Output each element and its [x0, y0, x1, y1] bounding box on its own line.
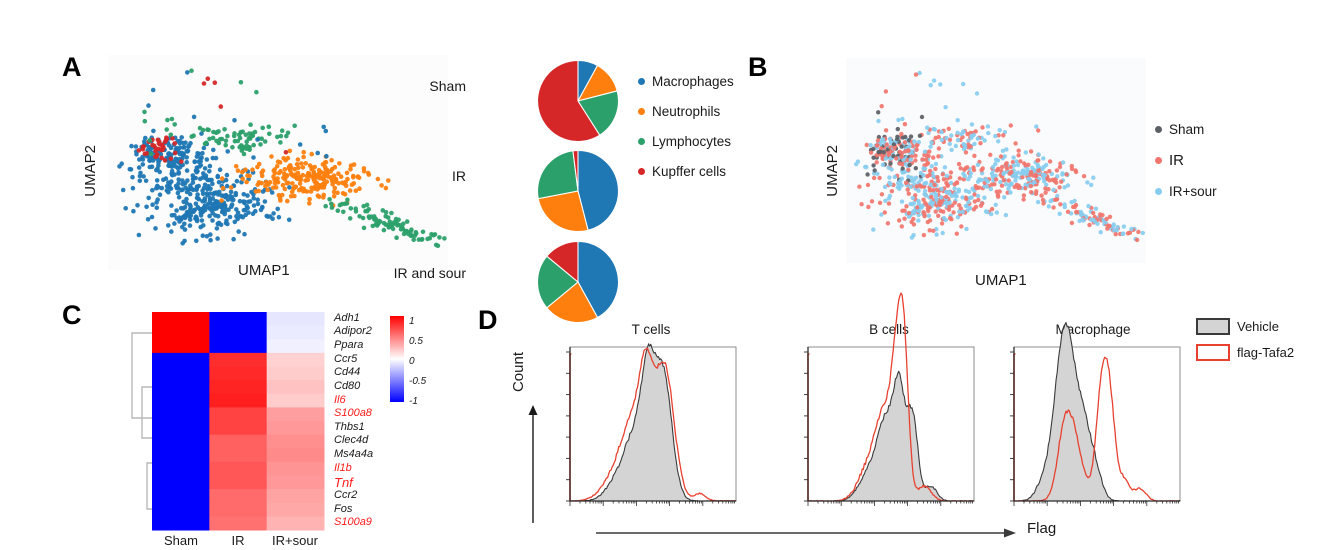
flag-axis-arrow-svg: [596, 527, 1016, 539]
legend-label-flag-tafa2: flag-Tafa2: [1237, 345, 1294, 360]
heatmap-cell: [152, 407, 210, 421]
legend-dot-ir-sour-icon: [1155, 188, 1162, 195]
panel-letter-a: A: [62, 52, 82, 83]
legend-label-macrophages: Macrophages: [652, 74, 734, 89]
heatmap-cell: [209, 394, 267, 408]
heatmap-cell: [267, 353, 325, 367]
heatmap-cell: [152, 476, 210, 490]
heatmap-cell: [267, 367, 325, 381]
pie-chart-ir: [534, 147, 622, 235]
heatmap-cell: [267, 489, 325, 503]
heatmap-col-label-ir-sour: IR+sour: [264, 533, 326, 548]
heatmap-cell: [267, 476, 325, 490]
umap1-axis-label-b: UMAP1: [975, 272, 1027, 289]
heatmap-cell: [267, 516, 325, 530]
heatmap-cell: [267, 503, 325, 517]
heatmap-cell: [209, 353, 267, 367]
heatmap-grid: [152, 312, 324, 530]
heatmap-col-label-sham: Sham: [152, 533, 210, 548]
colorbar-gradient: [390, 316, 404, 402]
heatmap-cell: [152, 353, 210, 367]
heatmap-cell: [152, 421, 210, 435]
legend-dot-ir-icon: [1155, 157, 1162, 164]
legend-item-macrophages: Macrophages: [638, 74, 734, 89]
heatmap-cell: [209, 516, 267, 530]
legend-item-flag-tafa2: flag-Tafa2: [1196, 344, 1294, 361]
heatmap-cell: [152, 448, 210, 462]
histogram-x-ticks: [808, 501, 973, 506]
heatmap-cell: [152, 312, 210, 326]
heatmap-colorbar: [390, 316, 404, 402]
heatmap-cell: [267, 448, 325, 462]
panel-letter-c: C: [62, 300, 82, 331]
umap-scatter-a-svg: [108, 55, 448, 270]
heatmap-gene-label: Adipor2: [334, 326, 372, 337]
heatmap-gene-label: Il1b: [334, 463, 352, 474]
heatmap-cell: [152, 380, 210, 394]
histogram-t-cells-svg: [556, 344, 740, 524]
panel-b-ylabel-wrap: UMAP2: [824, 145, 841, 197]
heatmap-cells: [152, 312, 325, 531]
colorbar-tick-0p5: 0.5: [409, 337, 423, 347]
count-axis-arrow-svg: [527, 405, 539, 523]
legend-swatch-vehicle-icon: [1196, 318, 1230, 335]
legend-panel-a: Macrophages Neutrophils Lymphocytes Kupf…: [638, 74, 734, 194]
colorbar-tick-1: 1: [409, 317, 415, 327]
heatmap-cell: [267, 421, 325, 435]
heatmap-gene-label: Ccr5: [334, 354, 357, 365]
panel-a-ylabel-wrap: UMAP2: [82, 145, 99, 197]
dendrogram-branch-mid: [142, 387, 152, 438]
heatmap-cell: [152, 394, 210, 408]
heatmap-gene-label: Clec4d: [334, 435, 368, 446]
legend-dot-kupffer-cells-icon: [638, 168, 645, 175]
count-axis-label: Count: [510, 352, 527, 392]
legend-dot-sham-icon: [1155, 126, 1162, 133]
histogram-t-cells: [556, 344, 740, 524]
colorbar-tick-neg0p5: -0.5: [409, 377, 426, 387]
heatmap-gene-label: Cd80: [334, 381, 360, 392]
heatmap-cell: [267, 380, 325, 394]
pie-slice: [538, 151, 578, 199]
histogram-b-cells: [794, 344, 978, 524]
heatmap-cell: [209, 448, 267, 462]
heatmap-cell: [267, 435, 325, 449]
legend-label-kupffer-cells: Kupffer cells: [652, 164, 726, 179]
histogram-x-ticks: [570, 501, 735, 506]
heatmap-cell: [209, 339, 267, 353]
panel-d-ylabel-wrap: Count: [510, 352, 527, 392]
umap2-axis-label-a: UMAP2: [82, 145, 99, 197]
heatmap-cell: [209, 326, 267, 340]
pie-label-ir-and-sour: IR and sour: [386, 265, 466, 281]
hist-title-macrophage: Macrophage: [1003, 322, 1183, 337]
histogram-b-cells-svg: [794, 344, 978, 524]
heatmap-gene-label: Ms4a4a: [334, 449, 373, 460]
heatmap-cell: [152, 489, 210, 503]
heatmap-grid-svg: [152, 312, 324, 530]
heatmap-cell: [267, 339, 325, 353]
hist-title-b-cells: B cells: [804, 322, 974, 337]
heatmap-cell: [152, 367, 210, 381]
panel-letter-d: D: [478, 305, 498, 336]
histogram-macrophage: [1000, 344, 1184, 524]
legend-swatch-flag-tafa2-icon: [1196, 344, 1230, 361]
legend-dot-macrophages-icon: [638, 78, 645, 85]
heatmap-gene-label: Ccr2: [334, 490, 357, 501]
legend-item-kupffer-cells: Kupffer cells: [638, 164, 734, 179]
pie-chart-ir-and-sour-svg: [534, 238, 622, 326]
heatmap-cell: [209, 421, 267, 435]
heatmap-gene-label: Fos: [334, 504, 352, 515]
heatmap-cell: [209, 367, 267, 381]
hist-title-t-cells: T cells: [566, 322, 736, 337]
legend-item-neutrophils: Neutrophils: [638, 104, 734, 119]
heatmap-gene-label: S100a8: [334, 408, 372, 419]
heatmap-cell: [152, 435, 210, 449]
heatmap-cell: [209, 489, 267, 503]
heatmap-cell: [152, 339, 210, 353]
pie-chart-sham: [534, 57, 622, 145]
heatmap-cell: [209, 476, 267, 490]
heatmap-dendrogram-svg: [124, 313, 152, 531]
count-axis-arrow-icon: [527, 405, 539, 523]
heatmap-gene-label: Ppara: [334, 340, 363, 351]
legend-label-sham: Sham: [1169, 122, 1204, 137]
colorbar-tick-0: 0: [409, 357, 415, 367]
heatmap-cell: [267, 312, 325, 326]
legend-dot-lymphocytes-icon: [638, 138, 645, 145]
legend-item-vehicle: Vehicle: [1196, 318, 1294, 335]
legend-label-ir-sour: IR+sour: [1169, 184, 1217, 199]
heatmap-cell: [152, 326, 210, 340]
heatmap-gene-label: Thbs1: [334, 422, 365, 433]
heatmap-cell: [209, 380, 267, 394]
heatmap-cell: [209, 435, 267, 449]
heatmap-cell: [267, 326, 325, 340]
flag-axis-arrow-icon: [596, 527, 1016, 539]
legend-item-sham: Sham: [1155, 122, 1217, 137]
heatmap-cell: [267, 394, 325, 408]
pie-chart-sham-svg: [534, 57, 622, 145]
legend-label-vehicle: Vehicle: [1237, 319, 1279, 334]
pie-chart-ir-svg: [534, 147, 622, 235]
heatmap-col-label-ir: IR: [210, 533, 266, 548]
heatmap-gene-label: Cd44: [334, 367, 360, 378]
pie-label-ir: IR: [400, 168, 466, 184]
heatmap-cell: [209, 407, 267, 421]
heatmap-cell: [209, 462, 267, 476]
legend-dot-neutrophils-icon: [638, 108, 645, 115]
pie-chart-ir-and-sour: [534, 238, 622, 326]
heatmap-gene-label: Adh1: [334, 313, 360, 324]
legend-item-ir-sour: IR+sour: [1155, 184, 1217, 199]
umap1-axis-label-a: UMAP1: [238, 262, 290, 279]
heatmap-colorbar-svg: [390, 316, 404, 402]
heatmap-gene-label: Il6: [334, 395, 346, 406]
histogram-x-ticks: [1014, 501, 1179, 506]
heatmap-cell: [152, 462, 210, 476]
colorbar-tick-neg1: -1: [409, 397, 418, 407]
heatmap-cell: [152, 516, 210, 530]
heatmap-gene-label: S100a9: [334, 517, 372, 528]
pie-label-sham: Sham: [400, 78, 466, 94]
umap2-axis-label-b: UMAP2: [824, 145, 841, 197]
legend-item-lymphocytes: Lymphocytes: [638, 134, 734, 149]
heatmap-cell: [267, 407, 325, 421]
heatmap-cell: [152, 503, 210, 517]
umap-scatter-a: [108, 55, 448, 270]
legend-panel-b: Sham IR IR+sour: [1155, 122, 1217, 214]
heatmap-gene-label: Tnf: [334, 476, 353, 489]
heatmap-cell: [209, 503, 267, 517]
legend-label-ir: IR: [1169, 152, 1184, 169]
legend-label-lymphocytes: Lymphocytes: [652, 134, 731, 149]
legend-item-ir: IR: [1155, 152, 1217, 169]
flag-axis-label: Flag: [1027, 520, 1056, 537]
legend-label-neutrophils: Neutrophils: [652, 104, 720, 119]
legend-panel-d: Vehicle flag-Tafa2: [1196, 318, 1294, 376]
heatmap-cell: [267, 462, 325, 476]
umap-scatter-b: [846, 58, 1146, 263]
heatmap-dendrogram: [124, 313, 152, 531]
panel-letter-b: B: [748, 52, 768, 83]
umap-scatter-b-svg: [846, 58, 1146, 263]
histogram-macrophage-svg: [1000, 344, 1184, 524]
heatmap-cell: [209, 312, 267, 326]
